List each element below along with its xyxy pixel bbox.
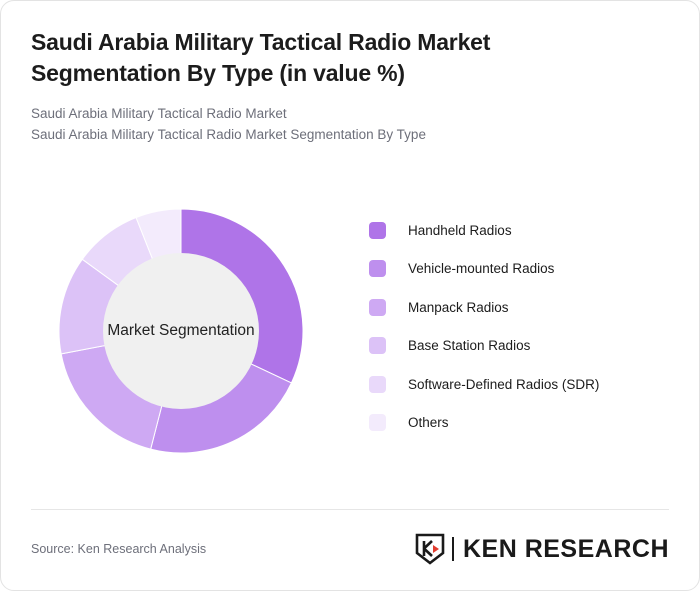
subtitle-line-1: Saudi Arabia Military Tactical Radio Mar… — [31, 104, 669, 125]
chart-card: Saudi Arabia Military Tactical Radio Mar… — [0, 0, 700, 591]
page-title: Saudi Arabia Military Tactical Radio Mar… — [31, 27, 591, 88]
legend-label: Base Station Radios — [408, 338, 530, 353]
legend-item[interactable]: Software-Defined Radios (SDR) — [369, 365, 699, 404]
legend-item[interactable]: Others — [369, 404, 699, 443]
legend-label: Software-Defined Radios (SDR) — [408, 377, 599, 392]
chart-header: Saudi Arabia Military Tactical Radio Mar… — [1, 1, 699, 146]
legend-swatch — [369, 337, 386, 354]
legend-swatch — [369, 260, 386, 277]
ken-research-badge-icon — [415, 533, 445, 565]
legend-label: Handheld Radios — [408, 223, 512, 238]
legend-item[interactable]: Base Station Radios — [369, 327, 699, 366]
chart-body: Market Segmentation Handheld RadiosVehic… — [1, 163, 699, 498]
legend-item[interactable]: Manpack Radios — [369, 288, 699, 327]
ken-research-logo: KEN RESEARCH — [415, 533, 669, 565]
chart-legend: Handheld RadiosVehicle-mounted RadiosMan… — [361, 163, 699, 442]
source-note: Source: Ken Research Analysis — [31, 542, 206, 556]
chart-footer: Source: Ken Research Analysis KEN RESEAR… — [31, 529, 669, 569]
legend-swatch — [369, 376, 386, 393]
legend-item[interactable]: Vehicle-mounted Radios — [369, 250, 699, 289]
legend-swatch — [369, 414, 386, 431]
donut-inner-circle — [103, 253, 259, 409]
legend-label: Manpack Radios — [408, 300, 509, 315]
legend-item[interactable]: Handheld Radios — [369, 211, 699, 250]
subtitle-line-2: Saudi Arabia Military Tactical Radio Mar… — [31, 125, 669, 146]
donut-svg — [26, 176, 336, 486]
subtitle-block: Saudi Arabia Military Tactical Radio Mar… — [31, 104, 669, 146]
footer-divider — [31, 509, 669, 510]
legend-swatch — [369, 222, 386, 239]
legend-swatch — [369, 299, 386, 316]
logo-separator — [452, 537, 454, 561]
legend-label: Vehicle-mounted Radios — [408, 261, 554, 276]
brand-wordmark: KEN RESEARCH — [463, 535, 669, 564]
legend-label: Others — [408, 415, 449, 430]
donut-chart: Market Segmentation — [1, 163, 361, 498]
